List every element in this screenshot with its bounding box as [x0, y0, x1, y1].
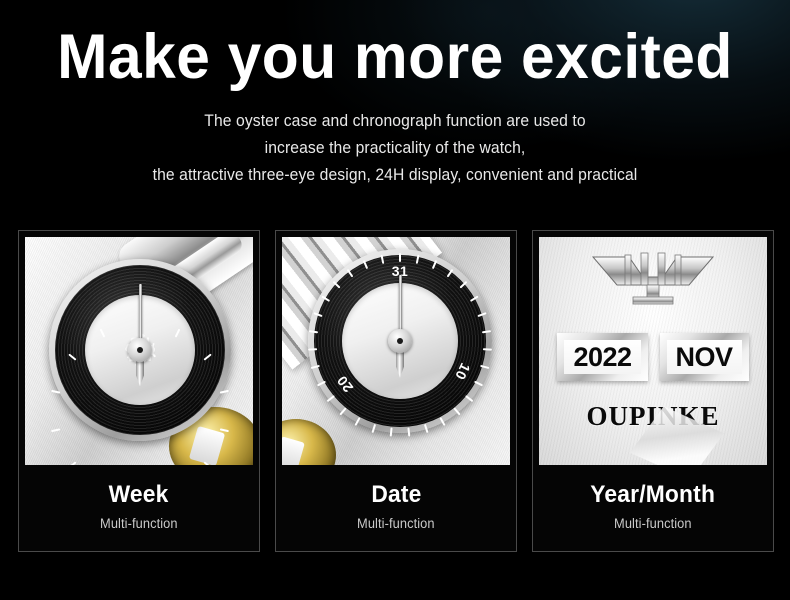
dial-label: 20 — [330, 368, 360, 400]
date-windows: 2022 NOV — [557, 333, 748, 381]
date-hand-hub — [388, 329, 412, 353]
subtitle-line-2: increase the practicality of the watch, — [20, 135, 771, 162]
panel-subcaption: Multi-function — [357, 516, 435, 531]
feature-panel-date[interactable]: 311020 Date Multi-function — [275, 230, 517, 552]
panel-caption: Week — [109, 481, 169, 509]
crown-emblem-icon — [589, 251, 717, 307]
panel-caption: Date — [371, 481, 421, 509]
calendar-photo: 2022 NOV OUPINKE — [539, 237, 767, 465]
page-title: Make you more excited — [16, 24, 774, 90]
feature-panel-week[interactable]: SUMOTUWETHFRSA Week Multi-function — [18, 230, 260, 552]
promo-banner: Make you more excited The oyster case an… — [0, 0, 790, 600]
panel-subcaption: Multi-function — [614, 516, 692, 531]
dial-label: 10 — [450, 356, 477, 388]
subtitle-line-1: The oyster case and chronograph function… — [20, 108, 771, 135]
week-dial-photo: SUMOTUWETHFRSA — [25, 237, 253, 465]
calendar-dial-face: 2022 NOV OUPINKE — [539, 237, 767, 465]
panel-caption: Year/Month — [591, 481, 716, 509]
date-subdial: 311020 — [308, 249, 492, 433]
subtitle-block: The oyster case and chronograph function… — [0, 108, 790, 189]
year-value: 2022 — [564, 340, 640, 374]
week-hand-hub — [128, 338, 152, 362]
feature-panel-year-month[interactable]: 2022 NOV OUPINKE Year/Month Multi-functi… — [532, 230, 774, 552]
month-window: NOV — [660, 333, 749, 381]
subtitle-line-3: the attractive three-eye design, 24H dis… — [20, 162, 771, 189]
week-subdial: SUMOTUWETHFRSA — [49, 259, 231, 441]
panel-subcaption: Multi-function — [100, 516, 178, 531]
year-window: 2022 — [557, 333, 647, 381]
feature-panels: SUMOTUWETHFRSA Week Multi-function 3 — [18, 230, 774, 552]
date-dial-photo: 311020 — [282, 237, 510, 465]
month-value: NOV — [667, 340, 742, 374]
